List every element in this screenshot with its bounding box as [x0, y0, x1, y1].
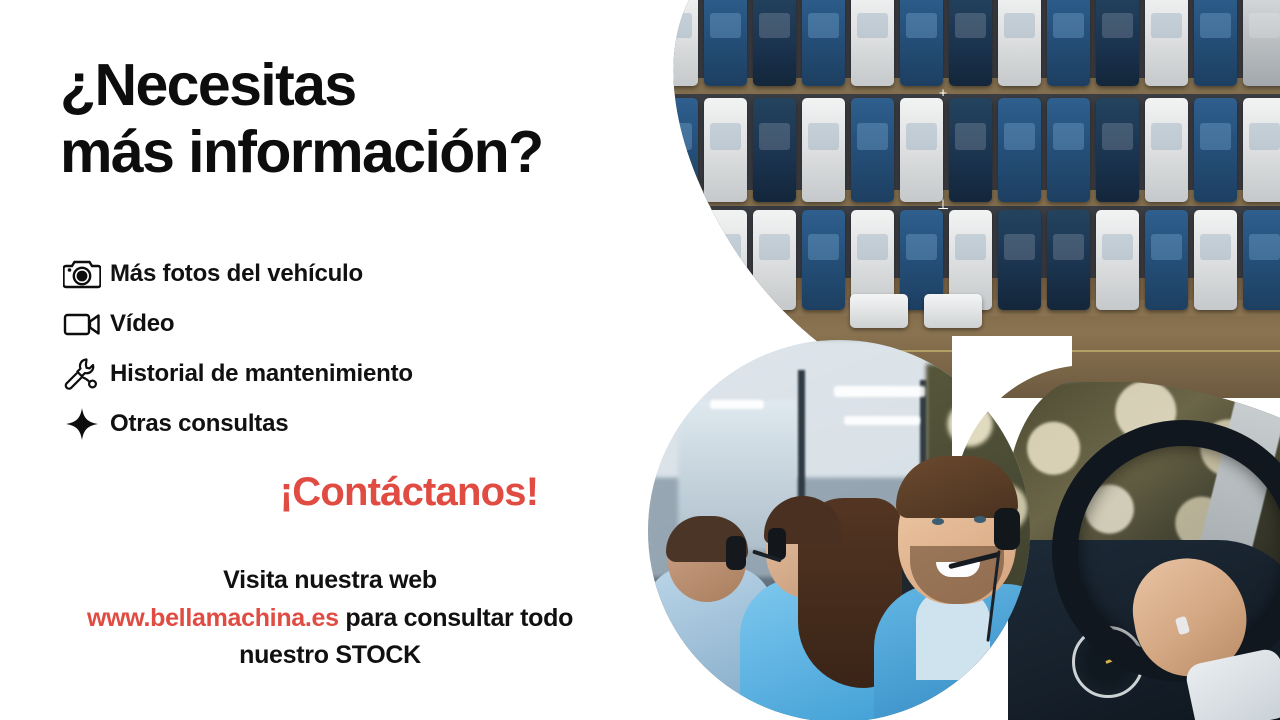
- sparkle-star-icon: [54, 407, 110, 441]
- list-item: Más fotos del vehículo: [54, 249, 644, 299]
- list-item: Vídeo: [54, 299, 644, 349]
- carlot-row: [600, 0, 1280, 86]
- website-line-1: Visita nuestra web: [0, 562, 660, 600]
- ceiling-light: [834, 386, 926, 397]
- website-block: Visita nuestra web www.bellamachina.es p…: [0, 562, 660, 675]
- website-line-2-rest: para consultar todo: [339, 604, 573, 632]
- website-url[interactable]: www.bellamachina.es: [87, 604, 339, 632]
- camera-icon: [54, 259, 110, 289]
- headline-line-2: más información?: [60, 119, 680, 186]
- page-title: ¿Necesitas más información?: [60, 52, 680, 187]
- website-line-2: www.bellamachina.es para consultar todo: [0, 600, 660, 638]
- wrench-hand-icon: [54, 357, 110, 391]
- list-item-label: Vídeo: [110, 310, 174, 338]
- video-camera-icon: [54, 310, 110, 338]
- cta-label: ¡Contáctanos!: [110, 470, 539, 514]
- list-item: Otras consultas: [54, 399, 644, 449]
- list-item-label: Otras consultas: [110, 410, 288, 438]
- promo-slide: +++ +++ +++ +++ ⊥⊥⊥ ⊥⊥⊥ ⊥⊥⊥ ⊥⊥⊥: [0, 0, 1280, 720]
- driver-steering-wheel-photo: [1008, 382, 1280, 720]
- carlot-row: [600, 98, 1280, 202]
- website-line-3: nuestro STOCK: [0, 637, 660, 675]
- cta-contact: ¡Contáctanos!: [0, 470, 648, 515]
- ceiling-light: [710, 400, 764, 409]
- list-item-label: Más fotos del vehículo: [110, 260, 363, 288]
- carlot-bottom-row: [850, 294, 982, 328]
- list-item-label: Historial de mantenimiento: [110, 360, 413, 388]
- headline-line-1: ¿Necesitas: [60, 52, 356, 118]
- feature-list: Más fotos del vehículo Vídeo Histori: [54, 249, 644, 449]
- aerial-car-lot-photo: +++ +++ +++ +++ ⊥⊥⊥ ⊥⊥⊥ ⊥⊥⊥ ⊥⊥⊥: [600, 0, 1280, 398]
- ceiling-light: [844, 416, 920, 425]
- list-item: Historial de mantenimiento: [54, 349, 644, 399]
